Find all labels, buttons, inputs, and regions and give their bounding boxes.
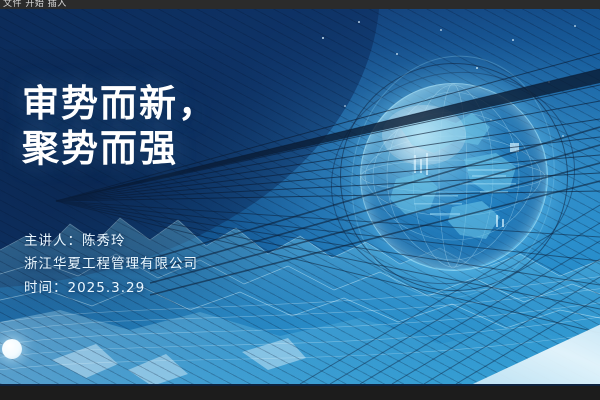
slide-title[interactable]: 审势而新， 聚势而强: [22, 81, 217, 171]
digital-globe-graphic: [338, 61, 568, 291]
globe-rim: [360, 83, 548, 271]
presenter-line: 主讲人：陈秀玲: [24, 230, 198, 253]
light-orb: [2, 339, 22, 359]
company-line: 浙江华夏工程管理有限公司: [24, 253, 198, 276]
slide-title-line-1: 审势而新，: [22, 81, 217, 126]
slide-subtitle-block[interactable]: 主讲人：陈秀玲 浙江华夏工程管理有限公司 时间：2025.3.29: [24, 230, 198, 300]
window-status-bar[interactable]: [0, 384, 600, 400]
slide-title-line-2: 聚势而强: [22, 126, 217, 171]
date-line: 时间：2025.3.29: [24, 277, 198, 300]
window-title-bar-text: 文件 开始 插入: [3, 0, 67, 9]
slide-canvas[interactable]: 审势而新， 聚势而强 主讲人：陈秀玲 浙江华夏工程管理有限公司 时间：2025.…: [0, 9, 600, 384]
presentation-window: 文件 开始 插入: [0, 0, 600, 400]
window-title-bar[interactable]: 文件 开始 插入: [0, 0, 600, 9]
